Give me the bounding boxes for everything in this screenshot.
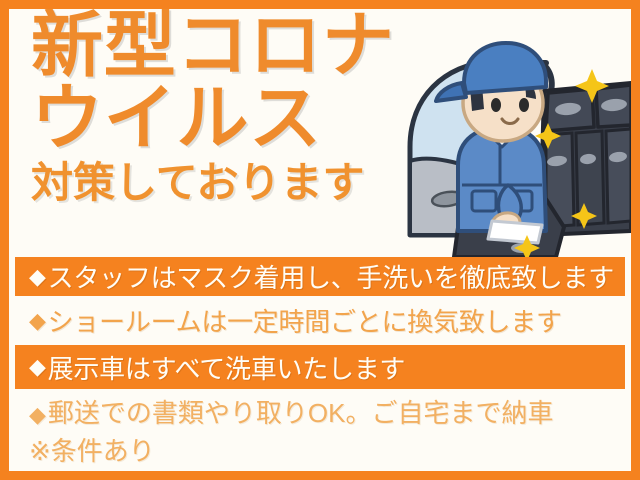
title-line-1: 新型コロナ (31, 11, 471, 82)
worker-eye-right (519, 98, 529, 112)
headline-group: 新型コロナ ウイルス 対策しております (31, 11, 471, 204)
list-item-text: 展示車はすべて洗車いたします (48, 349, 406, 386)
subtitle: 対策しております (31, 162, 471, 204)
title-line-2: ウイルス (31, 84, 471, 155)
list-item: ◆郵送での書類やり取りOK。ご自宅まで納車 ※条件あり (15, 394, 625, 470)
cleaning-cloth (488, 221, 542, 243)
list-item-note: ※条件あり (29, 432, 625, 470)
list-item: ◆ 展示車はすべて洗車いたします (15, 345, 625, 389)
diamond-icon: ◆ (29, 402, 46, 427)
list-item: ◆ スタッフはマスク着用し、手洗いを徹底致します (15, 257, 625, 296)
list-item-text: ショールームは一定時間ごとに換気致します (48, 302, 562, 339)
list-item-text: スタッフはマスク着用し、手洗いを徹底致します (48, 258, 614, 295)
list-item: ◆ ショールームは一定時間ごとに換気致します (15, 301, 625, 340)
worker-eye-left (491, 98, 501, 112)
banner-panel: 新型コロナ ウイルス 対策しております ◆ スタッフはマスク着用し、手洗いを徹底… (9, 9, 631, 471)
measures-list: ◆ スタッフはマスク着用し、手洗いを徹底致します ◆ ショールームは一定時間ごと… (15, 257, 625, 470)
diamond-icon: ◆ (29, 266, 46, 288)
diamond-icon: ◆ (29, 310, 46, 332)
covid-measures-banner: 新型コロナ ウイルス 対策しております ◆ スタッフはマスク着用し、手洗いを徹底… (0, 0, 640, 480)
diamond-icon: ◆ (29, 356, 46, 378)
worker-cap (464, 43, 546, 93)
list-item-text: 郵送での書類やり取りOK。ご自宅まで納車 (48, 394, 554, 432)
